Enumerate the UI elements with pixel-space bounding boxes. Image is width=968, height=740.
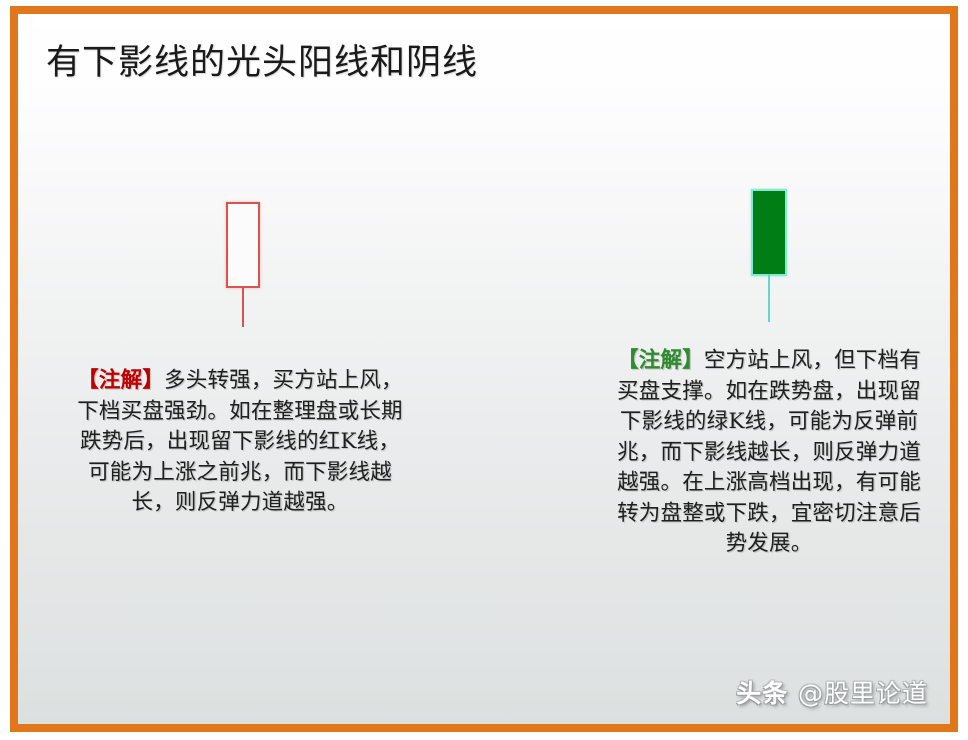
bearish-annotation-text: 空方站上风，但下档有买盘支撑。如在跌势盘，出现留下影线的绿K线，可能为反弹前兆，… — [617, 348, 921, 556]
watermark: 头条 @股里论道 — [736, 674, 928, 710]
bullish-candle-lower-shadow — [242, 286, 244, 327]
bearish-annotation-tag: 【注解】 — [617, 348, 704, 373]
bearish-annotation-block: 【注解】空方站上风，但下档有买盘支撑。如在跌势盘，出现留下影线的绿K线，可能为反… — [610, 346, 928, 560]
page-title: 有下影线的光头阳线和阴线 — [46, 34, 478, 85]
bullish-hollow-candle — [208, 184, 288, 344]
bullish-annotation-tag: 【注解】 — [77, 368, 164, 393]
slide-canvas: 有下影线的光头阳线和阴线 【注解】多头转强，买方站上风，下档买盘强劲。如在整理盘… — [18, 14, 950, 724]
watermark-prefix: 头条 — [736, 679, 788, 708]
bearish-candle-lower-shadow — [768, 274, 770, 322]
bearish-filled-candle — [733, 174, 813, 339]
bearish-candle-body — [751, 189, 787, 276]
watermark-handle: @股里论道 — [798, 679, 928, 708]
bullish-annotation-block: 【注解】多头转强，买方站上风，下档买盘强劲。如在整理盘或长期跌势后，出现留下影线… — [70, 366, 410, 519]
slide-root: 有下影线的光头阳线和阴线 【注解】多头转强，买方站上风，下档买盘强劲。如在整理盘… — [0, 0, 968, 740]
bullish-candle-body — [226, 202, 260, 288]
